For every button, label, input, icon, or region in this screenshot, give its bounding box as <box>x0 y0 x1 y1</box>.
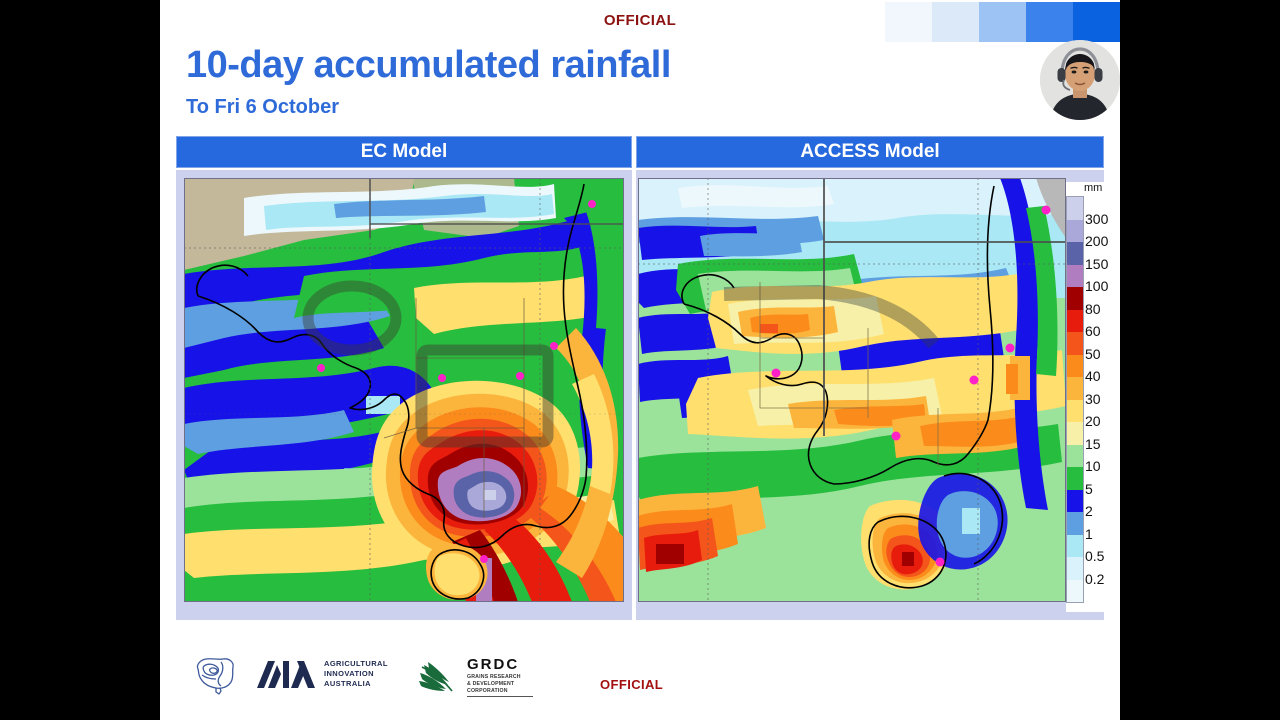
colorbar-label-10: 10 <box>1085 459 1101 473</box>
colorbar-band-10 <box>1067 422 1083 445</box>
colorbar-band-5 <box>1067 310 1083 333</box>
presenter-portrait-icon <box>1040 40 1120 120</box>
colorbar-band-0 <box>1067 197 1083 220</box>
colorbar-label-300: 300 <box>1085 212 1108 226</box>
panel-header-ec-label: EC Model <box>361 141 448 163</box>
grdc-logo: GRDC GRAINS RESEARCH & DEVELOPMENT CORPO… <box>418 657 533 697</box>
colorbar-band-4 <box>1067 287 1083 310</box>
colorbar-label-200: 200 <box>1085 234 1108 248</box>
grdc-mark: GRDC <box>467 657 533 674</box>
slide-canvas: OFFICIAL <box>160 0 1120 720</box>
classification-banner-top: OFFICIAL <box>160 12 1120 29</box>
aia-line-2: INNOVATION <box>324 669 388 679</box>
colorbar-band-15 <box>1067 535 1083 558</box>
colorbar-label-50: 50 <box>1085 347 1101 361</box>
classification-banner-bottom: OFFICIAL <box>600 677 663 692</box>
colorbar-band-7 <box>1067 355 1083 378</box>
colorbar-band-14 <box>1067 512 1083 535</box>
aia-line-1: AGRICULTURAL <box>324 659 388 669</box>
colorbar-band-3 <box>1067 265 1083 288</box>
letterbox-right <box>1120 0 1280 720</box>
colorbar-band-12 <box>1067 467 1083 490</box>
colorbar-label-60: 60 <box>1085 324 1101 338</box>
rainfall-colorbar-legend: mm 30020015010080605040302015105210.50.2 <box>1066 182 1120 612</box>
rainfall-contour-plot-access <box>638 178 1066 602</box>
letterbox-left <box>0 0 160 720</box>
aia-wordmark: AGRICULTURAL INNOVATION AUSTRALIA <box>324 659 388 689</box>
map-panel-access <box>636 170 1104 620</box>
colorbar-band-1 <box>1067 220 1083 243</box>
colorbar-band-16 <box>1067 557 1083 580</box>
grdc-wheat-icon <box>418 661 462 693</box>
colorbar-band-11 <box>1067 445 1083 468</box>
panel-header-ec: EC Model <box>176 136 632 168</box>
colorbar-label-30: 30 <box>1085 392 1101 406</box>
map-panel-ec <box>176 170 632 620</box>
colorbar-swatches <box>1066 196 1084 603</box>
australia-outline-logo <box>190 653 238 702</box>
colorbar-unit-label: mm <box>1084 182 1102 194</box>
colorbar-band-9 <box>1067 400 1083 423</box>
panel-header-access: ACCESS Model <box>636 136 1104 168</box>
grdc-wordmark: GRDC GRAINS RESEARCH & DEVELOPMENT CORPO… <box>467 657 533 697</box>
grdc-line-1: GRAINS RESEARCH <box>467 674 533 681</box>
aia-logo: AGRICULTURAL INNOVATION AUSTRALIA <box>255 659 388 689</box>
colorbar-band-17 <box>1067 580 1083 603</box>
colorbar-label-100: 100 <box>1085 279 1108 293</box>
rainfall-contour-plot-ec <box>184 178 624 602</box>
slide-footer: AGRICULTURAL INNOVATION AUSTRALIA <box>160 645 1120 705</box>
page-subtitle: To Fri 6 October <box>186 96 339 119</box>
colorbar-label-0.2: 0.2 <box>1085 572 1104 586</box>
aia-line-3: AUSTRALIA <box>324 679 388 689</box>
rainfall-map-access[interactable] <box>638 178 1066 602</box>
grdc-line-2: & DEVELOPMENT <box>467 681 533 688</box>
colorbar-label-150: 150 <box>1085 257 1108 271</box>
colorbar-band-8 <box>1067 377 1083 400</box>
panel-header-access-label: ACCESS Model <box>800 141 939 163</box>
colorbar-label-1: 1 <box>1085 527 1093 541</box>
grdc-tagline: GRAINS RESEARCH & DEVELOPMENT CORPORATIO… <box>467 674 533 697</box>
colorbar-label-15: 15 <box>1085 437 1101 451</box>
aia-mark-icon <box>255 659 317 689</box>
presenter-webcam-avatar[interactable] <box>1040 40 1120 120</box>
grdc-line-3: CORPORATION <box>467 688 533 695</box>
colorbar-label-5: 5 <box>1085 482 1093 496</box>
screen: OFFICIAL <box>0 0 1280 720</box>
colorbar-label-20: 20 <box>1085 414 1101 428</box>
rainfall-map-ec[interactable] <box>184 178 624 602</box>
colorbar-band-13 <box>1067 490 1083 513</box>
page-title: 10-day accumulated rainfall <box>186 44 671 87</box>
colorbar-band-2 <box>1067 242 1083 265</box>
colorbar-label-80: 80 <box>1085 302 1101 316</box>
colorbar-label-40: 40 <box>1085 369 1101 383</box>
colorbar-label-2: 2 <box>1085 504 1093 518</box>
australia-map-icon <box>190 653 238 697</box>
colorbar-band-6 <box>1067 332 1083 355</box>
colorbar-label-0.5: 0.5 <box>1085 549 1104 563</box>
